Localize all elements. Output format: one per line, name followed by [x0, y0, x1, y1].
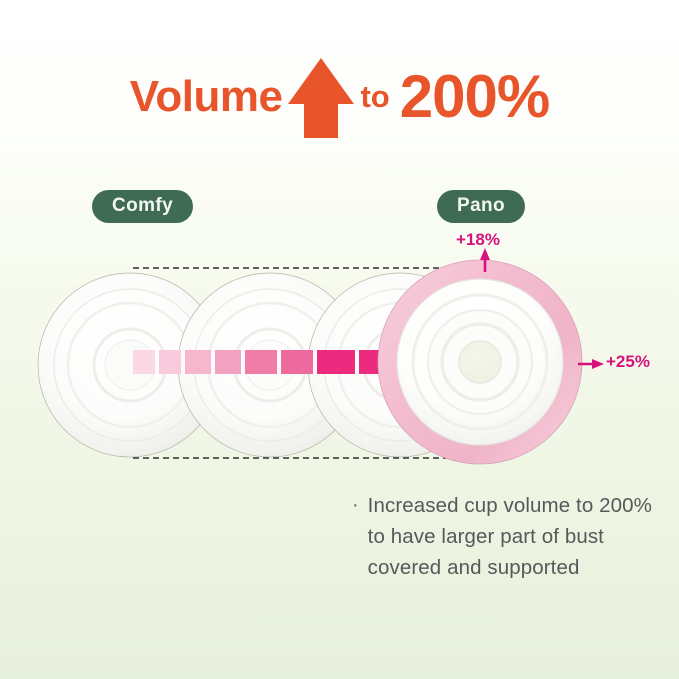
pano-cup [378, 260, 582, 464]
infographic-canvas: Volume to 200% Comfy Pano [0, 0, 679, 679]
comfy-bounding-box [133, 268, 492, 458]
comfy-cup-3 [308, 273, 492, 457]
comfy-cup-2 [178, 273, 362, 457]
headline-word: Volume [130, 75, 283, 121]
headline-connector: to [360, 81, 389, 116]
badge-comfy: Comfy [92, 190, 193, 223]
badge-pano: Pano [437, 190, 525, 223]
up-arrow-icon [282, 52, 360, 144]
comfy-cup-1 [38, 273, 222, 457]
growth-arrow-icon [133, 334, 440, 390]
bullet-marker: · [352, 490, 359, 520]
measure-arrow-top [480, 248, 490, 272]
measurement-right-label: +25% [606, 353, 650, 370]
measure-arrow-right [578, 359, 604, 369]
headline-value: 200% [400, 67, 549, 129]
measurement-top-label: +18% [456, 231, 500, 248]
feature-bullet: · Increased cup volume to 200% to have l… [352, 490, 652, 583]
headline: Volume to 200% [0, 52, 679, 144]
bullet-text: Increased cup volume to 200% to have lar… [368, 490, 652, 583]
